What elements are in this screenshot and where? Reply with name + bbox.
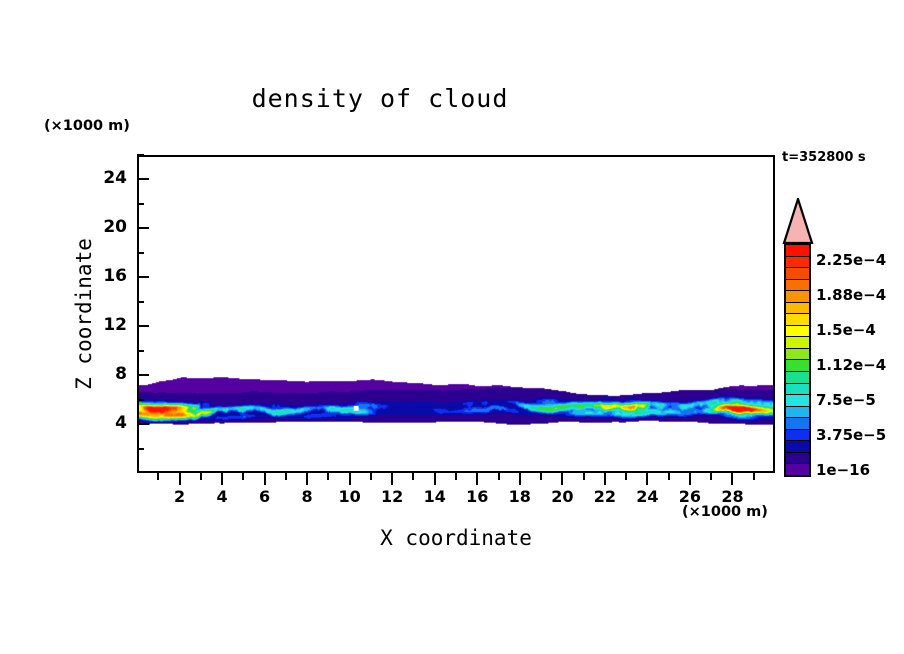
y-tick-minor: [137, 448, 144, 450]
x-tick-24: [646, 473, 648, 485]
x-tick-minor: [200, 473, 202, 480]
x-tick-minor: [157, 473, 159, 480]
y-tick-label-4: 4: [81, 413, 127, 433]
colorbar-band-1: [786, 257, 809, 269]
x-tick-28: [731, 473, 733, 485]
x-tick-10: [349, 473, 351, 485]
colorbar-overflow-cap: [779, 198, 817, 244]
x-tick-label-24: 24: [627, 487, 667, 506]
x-tick-label-16: 16: [457, 487, 497, 506]
x-tick-26: [689, 473, 691, 485]
x-tick-6: [264, 473, 266, 485]
x-tick-label-26: 26: [670, 487, 710, 506]
colorbar-band-18: [786, 453, 809, 465]
y-tick-minor: [137, 252, 144, 254]
colorbar-band-13: [786, 395, 809, 407]
x-tick-label-10: 10: [330, 487, 370, 506]
x-tick-label-20: 20: [542, 487, 582, 506]
x-tick-minor: [498, 473, 500, 480]
colorbar-label-3: 1.12e−4: [816, 356, 886, 374]
x-tick-minor: [583, 473, 585, 480]
x-tick-label-12: 12: [372, 487, 412, 506]
x-tick-minor: [370, 473, 372, 480]
x-tick-label-18: 18: [500, 487, 540, 506]
cloud-density-field: [139, 157, 773, 471]
colorbar-label-2: 1.5e−4: [816, 321, 876, 339]
x-tick-12: [391, 473, 393, 485]
colorbar-band-17: [786, 441, 809, 453]
x-tick-minor: [540, 473, 542, 480]
x-tick-minor: [285, 473, 287, 480]
x-tick-label-22: 22: [585, 487, 625, 506]
x-tick-8: [306, 473, 308, 485]
x-tick-label-4: 4: [202, 487, 242, 506]
colorbar-band-3: [786, 280, 809, 292]
x-tick-minor: [327, 473, 329, 480]
x-tick-minor: [710, 473, 712, 480]
colorbar-band-19: [786, 464, 809, 475]
x-tick-2: [179, 473, 181, 485]
y-tick-16: [137, 276, 149, 278]
colorbar-band-4: [786, 291, 809, 303]
x-tick-4: [221, 473, 223, 485]
y-tick-label-8: 8: [81, 364, 127, 384]
colorbar-band-0: [786, 245, 809, 257]
figure-canvas: density of cloud (×1000 m) (×1000 m) Z c…: [0, 0, 904, 654]
page-title: density of cloud: [0, 84, 760, 113]
colorbar-band-12: [786, 384, 809, 396]
x-axis-title: X coordinate: [137, 526, 775, 550]
y-tick-24: [137, 178, 149, 180]
y-tick-minor: [137, 399, 144, 401]
x-tick-minor: [455, 473, 457, 480]
y-tick-4: [137, 423, 149, 425]
colorbar-band-7: [786, 326, 809, 338]
colorbar-bands: [784, 243, 811, 477]
x-tick-minor: [625, 473, 627, 480]
x-tick-16: [476, 473, 478, 485]
x-axis-unit-label: (×1000 m): [682, 504, 768, 520]
colorbar-band-10: [786, 360, 809, 372]
y-tick-minor: [137, 154, 144, 156]
colorbar-label-1: 1.88e−4: [816, 286, 886, 304]
simulation-time-annotation: t=352800 s: [782, 150, 866, 165]
x-tick-22: [604, 473, 606, 485]
x-tick-label-8: 8: [287, 487, 327, 506]
y-tick-minor: [137, 203, 144, 205]
x-tick-18: [519, 473, 521, 485]
y-tick-label-20: 20: [81, 217, 127, 237]
x-tick-label-14: 14: [415, 487, 455, 506]
x-tick-minor: [753, 473, 755, 480]
y-tick-label-12: 12: [81, 315, 127, 335]
x-tick-minor: [242, 473, 244, 480]
y-tick-12: [137, 325, 149, 327]
x-tick-label-6: 6: [245, 487, 285, 506]
plot-area: [137, 155, 775, 473]
colorbar-band-16: [786, 430, 809, 442]
colorbar-band-6: [786, 314, 809, 326]
x-tick-minor: [412, 473, 414, 480]
colorbar-band-9: [786, 349, 809, 361]
y-tick-label-16: 16: [81, 266, 127, 286]
colorbar-label-5: 3.75e−5: [816, 426, 886, 444]
x-tick-20: [561, 473, 563, 485]
y-tick-label-24: 24: [81, 168, 127, 188]
x-tick-label-2: 2: [160, 487, 200, 506]
y-tick-minor: [137, 301, 144, 303]
x-tick-minor: [668, 473, 670, 480]
colorbar-label-6: 1e−16: [816, 461, 870, 479]
y-tick-8: [137, 374, 149, 376]
x-tick-label-28: 28: [712, 487, 752, 506]
colorbar-band-5: [786, 303, 809, 315]
y-tick-minor: [137, 350, 144, 352]
colorbar-band-14: [786, 407, 809, 419]
x-tick-14: [434, 473, 436, 485]
colorbar-band-15: [786, 418, 809, 430]
colorbar-label-0: 2.25e−4: [816, 251, 886, 269]
y-axis-unit-label: (×1000 m): [44, 118, 130, 134]
colorbar-label-4: 7.5e−5: [816, 391, 876, 409]
colorbar-band-8: [786, 337, 809, 349]
colorbar-band-2: [786, 268, 809, 280]
y-tick-20: [137, 227, 149, 229]
colorbar-band-11: [786, 372, 809, 384]
